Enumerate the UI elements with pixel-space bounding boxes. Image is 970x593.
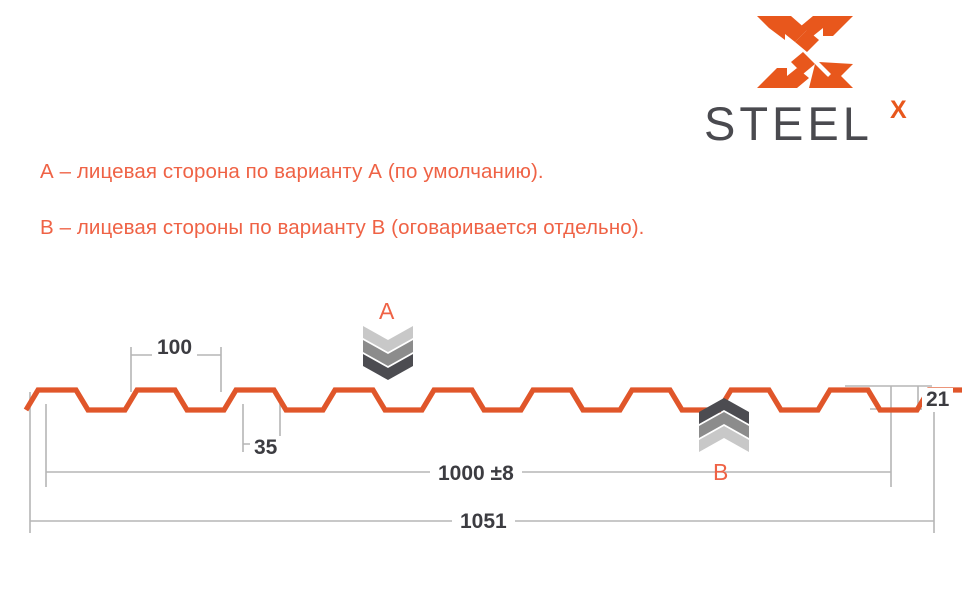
dimension-label-valley: 35 [250,436,281,460]
side-marker-a-chevrons [363,326,413,380]
profile-drawing [0,0,970,593]
dimension-label-pitch: 100 [152,336,197,360]
trapezoidal-profile-line [26,390,962,410]
dimension-label-total-width: 1051 [452,510,515,534]
side-marker-a-label: А [379,300,394,323]
dimension-label-useful-width: 1000 ±8 [430,462,522,486]
dimension-label-height: 21 [922,388,953,412]
side-marker-b-chevrons [699,398,749,452]
side-marker-b-label: В [713,461,728,484]
